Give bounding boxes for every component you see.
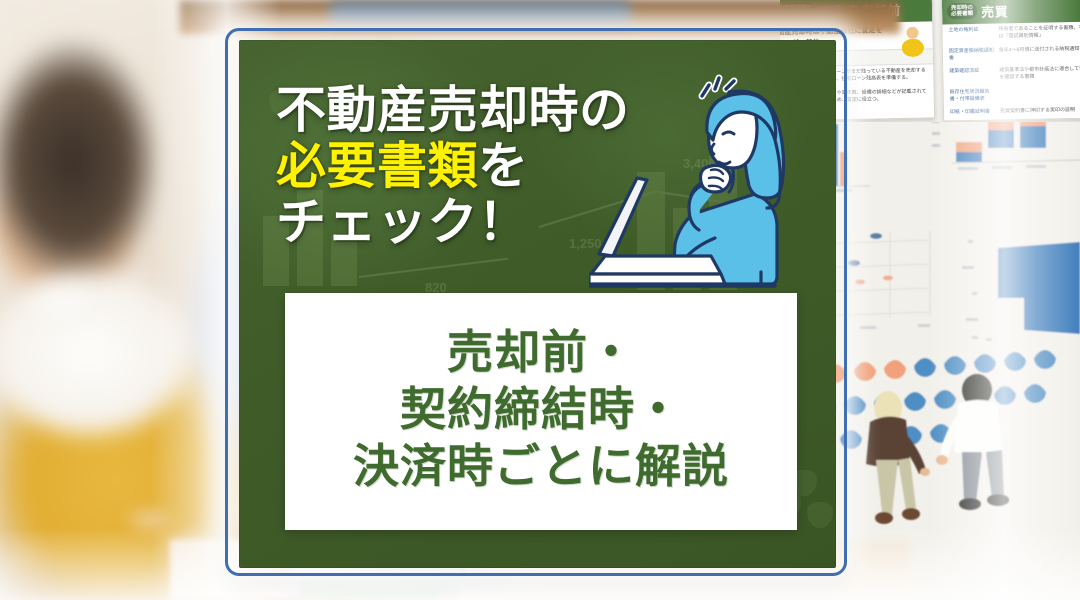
document-row: 土地の権利証 所有者であることを証明する書類。不動産は「登記識別情報」 [942, 21, 1080, 45]
subtitle-line-1: 売却前・ [447, 324, 635, 381]
document-row-key: 印紙・印鑑証明書 [950, 109, 996, 117]
woman-thinking-at-laptop-illustration [589, 58, 829, 308]
document-row-value: 毎年4〜6月頃に送付される納税通知書 [999, 45, 1080, 61]
subtitle-line-3: 決済時ごとに解説 [353, 438, 729, 495]
headline-highlight: 必要書類 [276, 137, 478, 195]
document-row-key: 建築確認済証 [949, 68, 995, 83]
subtitle-line-2: 契約締結時・ [400, 381, 682, 438]
banner-card: 1,250 3,400 820 65% 不動産売却時の 必要書類を チェック！ [239, 40, 836, 568]
document-row-key: 固定資産税納税通知書 [949, 47, 995, 62]
document-row-value: 所有者であることを証明する書類。不動産は「登記識別情報」 [998, 25, 1080, 41]
document-row: 既存住宅状況報告書・付帯設備表 [944, 83, 1080, 107]
headline-line-1: 不動産売却時の [276, 84, 630, 136]
document-row-key: 既存住宅状況報告書・付帯設備表 [950, 88, 996, 103]
document-row: 建築確認済証 建築基準法や都市計画法に適合しているかを確認する書類 [943, 62, 1080, 86]
document-preview-sale-contract: 売却時の 必要書類 売買 土地の権利証 所有者であることを証明する書類。不動産は… [941, 0, 1080, 122]
headline-line-2-suffix: を [478, 137, 529, 195]
headline-line-3: チェック！ [276, 196, 630, 248]
subtitle-box: 売却前・ 契約締結時・ 決済時ごとに解説 [285, 293, 797, 530]
document-row: 固定資産税納税通知書 毎年4〜6月頃に送付される納税通知書 [943, 42, 1080, 66]
document-tag-line2: 必要書類 [951, 11, 973, 17]
top-monitor-strip [330, 0, 630, 26]
document-tag: 売却時の 必要書類 [947, 3, 977, 20]
document-header: 売却時の 必要書類 売買 [942, 0, 1080, 25]
desk-paper-stack-secondary [298, 580, 441, 600]
document-row-key: 土地の権利証 [948, 27, 994, 42]
banner-card-frame: 1,250 3,400 820 65% 不動産売却時の 必要書類を チェック！ [225, 28, 847, 576]
document-row-value [1000, 86, 1080, 102]
document-row-value: 売買契約書に押印する実印の証明 [1000, 107, 1080, 116]
document-illustration-icon [896, 26, 927, 59]
document-title: 売買 [981, 1, 1008, 21]
headline: 不動産売却時の 必要書類を チェック！ [276, 84, 630, 248]
document-row-value: 建築基準法や都市計画法に適合しているかを確認する書類 [999, 66, 1080, 82]
document-row: 印紙・印鑑証明書 売買契約書に押印する実印の証明 [944, 103, 1080, 119]
headline-line-2: 必要書類を [276, 140, 630, 192]
